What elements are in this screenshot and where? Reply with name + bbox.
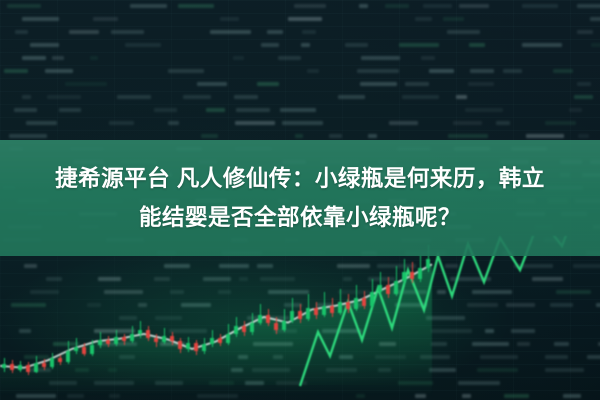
candle-body: [418, 268, 422, 279]
candle-body: [146, 330, 150, 338]
candle-body: [34, 363, 38, 371]
candle-body: [82, 347, 86, 354]
candle-body: [2, 364, 6, 368]
candle-body: [186, 343, 190, 349]
candle-body: [234, 326, 238, 334]
candle-body: [242, 326, 246, 332]
candle-body: [10, 364, 14, 370]
candle-body: [226, 334, 230, 343]
candle-body: [138, 330, 142, 334]
candlestick-chart: [0, 236, 600, 376]
candle-body: [178, 341, 182, 349]
candle-body: [282, 321, 286, 330]
candle-body: [330, 306, 334, 314]
candle-body: [362, 298, 366, 306]
candle-body: [50, 358, 54, 366]
candle-body: [258, 315, 262, 323]
candle-body: [402, 272, 406, 281]
candle-body: [298, 311, 302, 319]
candle-body: [338, 302, 342, 313]
candle-body: [122, 337, 126, 342]
candle-body: [66, 351, 70, 362]
candle-body: [426, 259, 430, 268]
candle-body: [266, 315, 270, 323]
candle-body: [162, 336, 166, 343]
candle-body: [130, 334, 134, 342]
candle-wick: [76, 338, 77, 354]
candle-body: [114, 337, 118, 345]
candle-body: [354, 298, 358, 309]
candle-body: [378, 285, 382, 293]
candle-body: [290, 311, 294, 320]
candle-body: [250, 323, 254, 332]
candle-body: [154, 338, 158, 343]
candle-body: [194, 343, 198, 351]
candle-body: [74, 347, 78, 351]
candle-body: [106, 340, 110, 345]
candle-body: [210, 338, 214, 345]
candle-body: [42, 363, 46, 367]
candle-body: [322, 306, 326, 315]
candle-body: [370, 292, 374, 305]
headline-line-2: 能结婴是否全部依靠小绿瓶呢？: [139, 199, 461, 236]
candle-body: [218, 338, 222, 344]
candle-body: [98, 340, 102, 346]
candle-body: [58, 358, 62, 362]
candle-body: [386, 285, 390, 294]
headline-block: 捷希源平台 凡人修仙传：小绿瓶是何来历，韩立 能结婴是否全部依靠小绿瓶呢？: [0, 140, 600, 256]
candle-body: [410, 272, 414, 280]
candle-body: [394, 281, 398, 294]
candle-body: [18, 365, 22, 370]
candle-body: [90, 345, 94, 353]
candle-body: [202, 344, 206, 351]
headline-line-1: 捷希源平台 凡人修仙传：小绿瓶是何来历，韩立: [55, 160, 545, 197]
candle-body: [314, 308, 318, 316]
candle-body: [346, 302, 350, 310]
candle-body: [306, 308, 310, 319]
candle-body: [170, 336, 174, 342]
screenshot-canvas: 捷希源平台 凡人修仙传：小绿瓶是何来历，韩立 能结婴是否全部依靠小绿瓶呢？: [0, 0, 600, 400]
candle-body: [26, 365, 30, 372]
candle-body: [274, 323, 278, 331]
